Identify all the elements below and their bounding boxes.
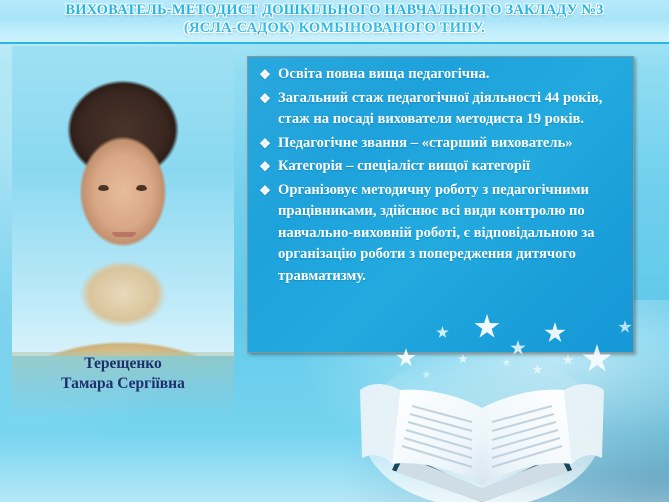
info-panel-body: ❖ Освіта повна вища педагогічна. ❖ Загал…	[248, 57, 633, 293]
page-title-line-2: (ЯСЛА-САДОК) КОМБІНОВАНОГО ТИПУ.	[0, 19, 669, 37]
portrait-eye-right	[136, 186, 147, 191]
diamond-bullet-icon: ❖	[257, 64, 273, 86]
page-title: ВИХОВАТЕЛЬ-МЕТОДИСТ ДОШКІЛЬНОГО НАВЧАЛЬН…	[0, 1, 669, 37]
sparkle-star	[532, 364, 543, 375]
portrait-caption-given-name: Тамара Сергіївна	[0, 374, 246, 394]
page-title-line-1: ВИХОВАТЕЛЬ-МЕТОДИСТ ДОШКІЛЬНОГО НАВЧАЛЬН…	[65, 2, 603, 18]
slide-canvas: ВИХОВАТЕЛЬ-МЕТОДИСТ ДОШКІЛЬНОГО НАВЧАЛЬН…	[0, 0, 669, 502]
list-item-text: Освіта повна вища педагогічна.	[278, 66, 489, 82]
list-item: ❖ Загальний стаж педагогічної діяльності…	[254, 88, 625, 131]
portrait-image	[12, 46, 234, 356]
portrait-mouth	[112, 232, 136, 237]
qualification-list: ❖ Освіта повна вища педагогічна. ❖ Загал…	[254, 64, 625, 287]
list-item: ❖ Організовує методичну роботу з педагог…	[254, 180, 625, 288]
portrait-caption: Терещенко Тамара Сергіївна	[0, 354, 246, 394]
list-item-text: Організовує методичну роботу з педагогіч…	[278, 182, 595, 284]
sparkle-star	[502, 358, 511, 367]
list-item: ❖ Категорія – спеціаліст вищої категорії	[254, 156, 625, 178]
list-item: ❖ Педагогічне звання – «старший виховате…	[254, 133, 625, 155]
list-item-text: Загальний стаж педагогічної діяльності 4…	[278, 90, 602, 128]
slide-header-band: ВИХОВАТЕЛЬ-МЕТОДИСТ ДОШКІЛЬНОГО НАВЧАЛЬН…	[0, 0, 669, 44]
portrait-photo	[12, 46, 234, 356]
diamond-bullet-icon: ❖	[257, 180, 273, 202]
list-item-text: Категорія – спеціаліст вищої категорії	[278, 158, 530, 174]
sparkle-star	[422, 370, 431, 379]
list-item: ❖ Освіта повна вища педагогічна.	[254, 64, 625, 86]
sparkle-star	[458, 354, 468, 364]
diamond-bullet-icon: ❖	[257, 88, 273, 110]
list-item-text: Педагогічне звання – «старший вихователь…	[278, 135, 573, 151]
info-panel: ❖ Освіта повна вища педагогічна. ❖ Загал…	[247, 56, 634, 353]
portrait-eye-left	[98, 186, 109, 191]
diamond-bullet-icon: ❖	[257, 156, 273, 178]
portrait-caption-surname: Терещенко	[0, 354, 246, 374]
sparkle-star	[562, 354, 574, 366]
diamond-bullet-icon: ❖	[257, 133, 273, 155]
open-book-illustration	[296, 360, 669, 502]
